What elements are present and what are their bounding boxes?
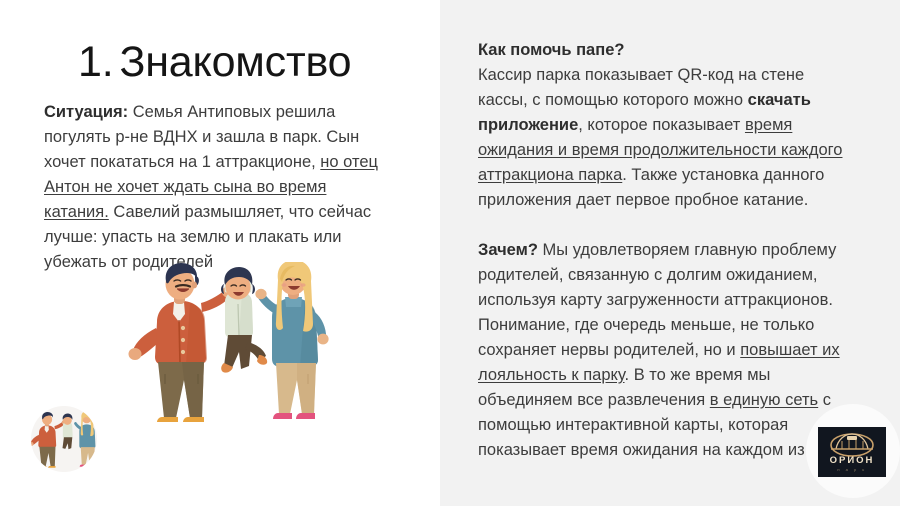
family-illustration: [112, 262, 336, 424]
left-panel: 1.Знакомство Ситуация: Семья Антиповых р…: [0, 0, 440, 506]
right-paragraph-2: Зачем? Мы удовлетворяем главную проблему…: [478, 238, 848, 463]
right-text-block: Как помочь папе? Кассир парка показывает…: [478, 38, 848, 463]
title-number: 1.: [78, 38, 113, 86]
right-heading-1: Как помочь папе?: [478, 38, 848, 63]
p2-underlined-2: в единую сеть: [710, 391, 818, 409]
right-paragraph-1: Кассир парка показывает QR-код на стене …: [478, 63, 848, 213]
family-thumbnail-badge: [31, 406, 97, 472]
logo-subtitle: п а р к: [837, 467, 866, 472]
logo-wordmark: ОРИОН: [830, 455, 875, 466]
presentation-slide: 1.Знакомство Ситуация: Семья Антиповых р…: [0, 0, 900, 506]
paragraph-spacer: [478, 213, 848, 238]
situation-label: Ситуация:: [44, 103, 128, 121]
orion-logo: ОРИОН п а р к: [818, 427, 886, 477]
situation-paragraph: Ситуация: Семья Антиповых решила погулят…: [44, 100, 394, 275]
title-text: Знакомство: [119, 38, 351, 86]
p1-part2: , которое показывает: [578, 116, 745, 134]
page-title: 1.Знакомство: [78, 38, 351, 87]
p2-bold-label: Зачем?: [478, 241, 538, 259]
